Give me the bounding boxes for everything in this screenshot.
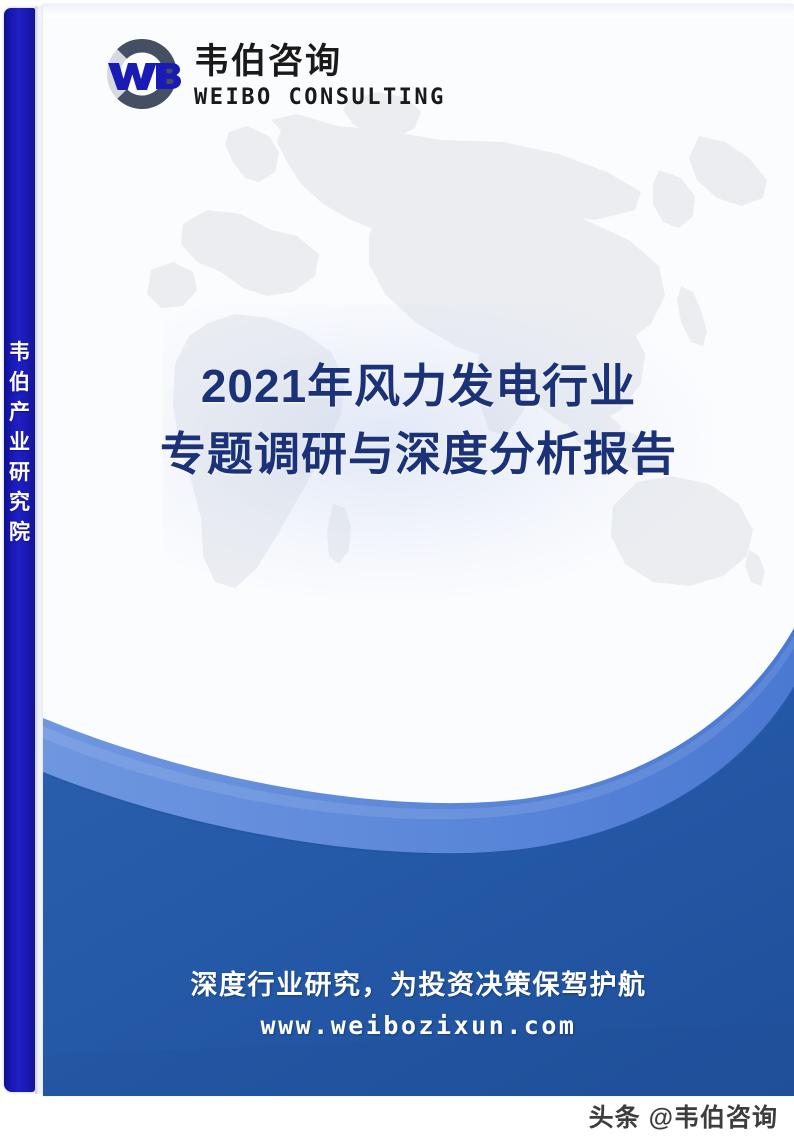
spine-title: 韦 伯 产 业 研 究 院	[4, 338, 35, 548]
spine-char: 院	[4, 518, 35, 548]
footer-tagline: 深度行业研究，为投资决策保驾护航	[43, 966, 794, 1004]
brand-logo: 韦伯咨询 WEIBO CONSULTING	[100, 32, 446, 116]
cover-top-sheen	[43, 4, 794, 18]
report-title-line-2: 专题调研与深度分析报告	[43, 420, 794, 488]
spine-char: 究	[4, 488, 35, 518]
wb-circle-logo-icon	[100, 32, 184, 116]
book-mockup: 韦 伯 产 业 研 究 院	[0, 0, 794, 1100]
brand-name-en: WEIBO CONSULTING	[194, 84, 446, 111]
source-watermark: 头条 @韦伯咨询	[589, 1098, 778, 1134]
spine-char: 业	[4, 428, 35, 458]
footer-website: www.weibozixun.com	[43, 1008, 794, 1044]
spine-char: 伯	[4, 368, 35, 398]
book-cover-face: 韦伯咨询 WEIBO CONSULTING 2021年风力发电行业 专题调研与深…	[43, 4, 794, 1096]
report-title: 2021年风力发电行业 专题调研与深度分析报告	[43, 352, 794, 488]
report-title-line-1: 2021年风力发电行业	[43, 352, 794, 420]
book-spine: 韦 伯 产 业 研 究 院	[4, 8, 35, 1092]
brand-name-cn: 韦伯咨询	[194, 42, 446, 82]
report-cover-page: 韦 伯 产 业 研 究 院	[0, 0, 794, 1142]
spine-char: 韦	[4, 338, 35, 368]
brand-wordmark: 韦伯咨询 WEIBO CONSULTING	[194, 38, 446, 111]
cover-footer: 深度行业研究，为投资决策保驾护航 www.weibozixun.com	[43, 966, 794, 1044]
spine-char: 产	[4, 398, 35, 428]
spine-char: 研	[4, 458, 35, 488]
